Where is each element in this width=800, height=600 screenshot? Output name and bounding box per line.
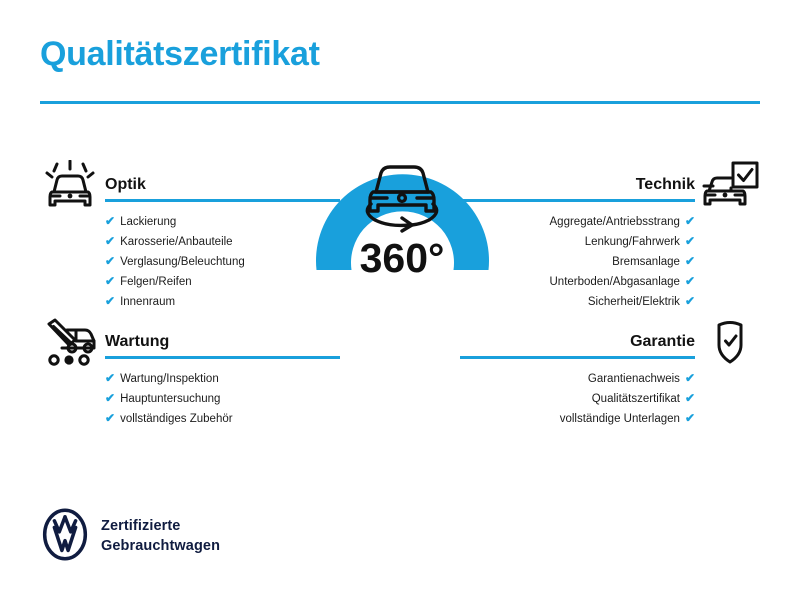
list-item: Garantienachweis✔ (500, 369, 695, 389)
check-icon: ✔ (105, 371, 115, 385)
check-icon: ✔ (105, 214, 115, 228)
brand-text-line1: Zertifizierte (101, 517, 220, 537)
shield-check-icon (700, 317, 760, 369)
page-title: Qualitätszertifikat (40, 36, 320, 73)
title-divider (40, 101, 760, 104)
check-icon: ✔ (685, 371, 695, 385)
list-item: Bremsanlage✔ (500, 252, 695, 272)
badge-360-gebrauchtwagen-check: 360° Gebrauchtwagen-Check (295, 152, 510, 374)
check-icon: ✔ (685, 411, 695, 425)
list-item-label: vollständige Unterlagen (560, 413, 680, 425)
list-item-label: Unterboden/Abgasanlage (550, 276, 680, 288)
list-item-label: Verglasung/Beleuchtung (120, 256, 245, 268)
volkswagen-logo (42, 508, 88, 566)
check-icon: ✔ (105, 254, 115, 268)
check-icon: ✔ (105, 234, 115, 248)
list-item: Qualitätszertifikat✔ (500, 389, 695, 409)
list-item-label: Innenraum (120, 296, 175, 308)
checklist-garantie: Garantienachweis✔ Qualitätszertifikat✔ v… (460, 365, 760, 429)
badge-center-label: 360° (360, 235, 445, 281)
list-item-label: Sicherheit/Elektrik (588, 296, 680, 308)
check-icon: ✔ (105, 274, 115, 288)
section-title: Technik (636, 176, 695, 194)
list-item-label: Hauptuntersuchung (120, 393, 220, 405)
list-item-label: Karosserie/Anbauteile (120, 236, 233, 248)
section-title: Garantie (630, 333, 695, 351)
list-item: Aggregate/Antriebsstrang✔ (500, 212, 695, 232)
check-icon: ✔ (685, 274, 695, 288)
section-title: Wartung (105, 333, 169, 351)
brand-lockup: Zertifizierte Gebrauchtwagen (42, 508, 220, 566)
car-front-lights-icon (40, 160, 100, 212)
list-item-label: Lenkung/Fahrwerk (585, 236, 680, 248)
list-item: Sicherheit/Elektrik✔ (500, 292, 695, 312)
car-checkbox-icon (700, 160, 760, 212)
list-item-label: Qualitätszertifikat (592, 393, 680, 405)
brand-text-line2: Gebrauchtwagen (101, 537, 220, 557)
section-title: Optik (105, 176, 146, 194)
check-icon: ✔ (105, 411, 115, 425)
check-icon: ✔ (685, 254, 695, 268)
list-item-label: Aggregate/Antriebsstrang (550, 216, 680, 228)
list-item: vollständige Unterlagen✔ (500, 409, 695, 429)
list-item: ✔Hauptuntersuchung (105, 389, 340, 409)
list-item-label: vollständiges Zubehör (120, 413, 233, 425)
list-item-label: Lackierung (120, 216, 176, 228)
check-icon: ✔ (105, 391, 115, 405)
car-service-tool-icon (40, 317, 100, 369)
brand-text: Zertifizierte Gebrauchtwagen (101, 517, 220, 556)
list-item-label: Felgen/Reifen (120, 276, 192, 288)
list-item: Lenkung/Fahrwerk✔ (500, 232, 695, 252)
check-icon: ✔ (685, 294, 695, 308)
list-item-label: Garantienachweis (588, 373, 680, 385)
list-item-label: Wartung/Inspektion (120, 373, 219, 385)
check-icon: ✔ (685, 391, 695, 405)
check-icon: ✔ (685, 214, 695, 228)
check-icon: ✔ (105, 294, 115, 308)
check-icon: ✔ (685, 234, 695, 248)
list-item: ✔vollständiges Zubehör (105, 409, 340, 429)
list-item-label: Bremsanlage (612, 256, 680, 268)
checklist-wartung: ✔Wartung/Inspektion ✔Hauptuntersuchung ✔… (40, 365, 340, 429)
list-item: Unterboden/Abgasanlage✔ (500, 272, 695, 292)
badge-curved-label: Gebrauchtwagen-Check (313, 286, 493, 363)
